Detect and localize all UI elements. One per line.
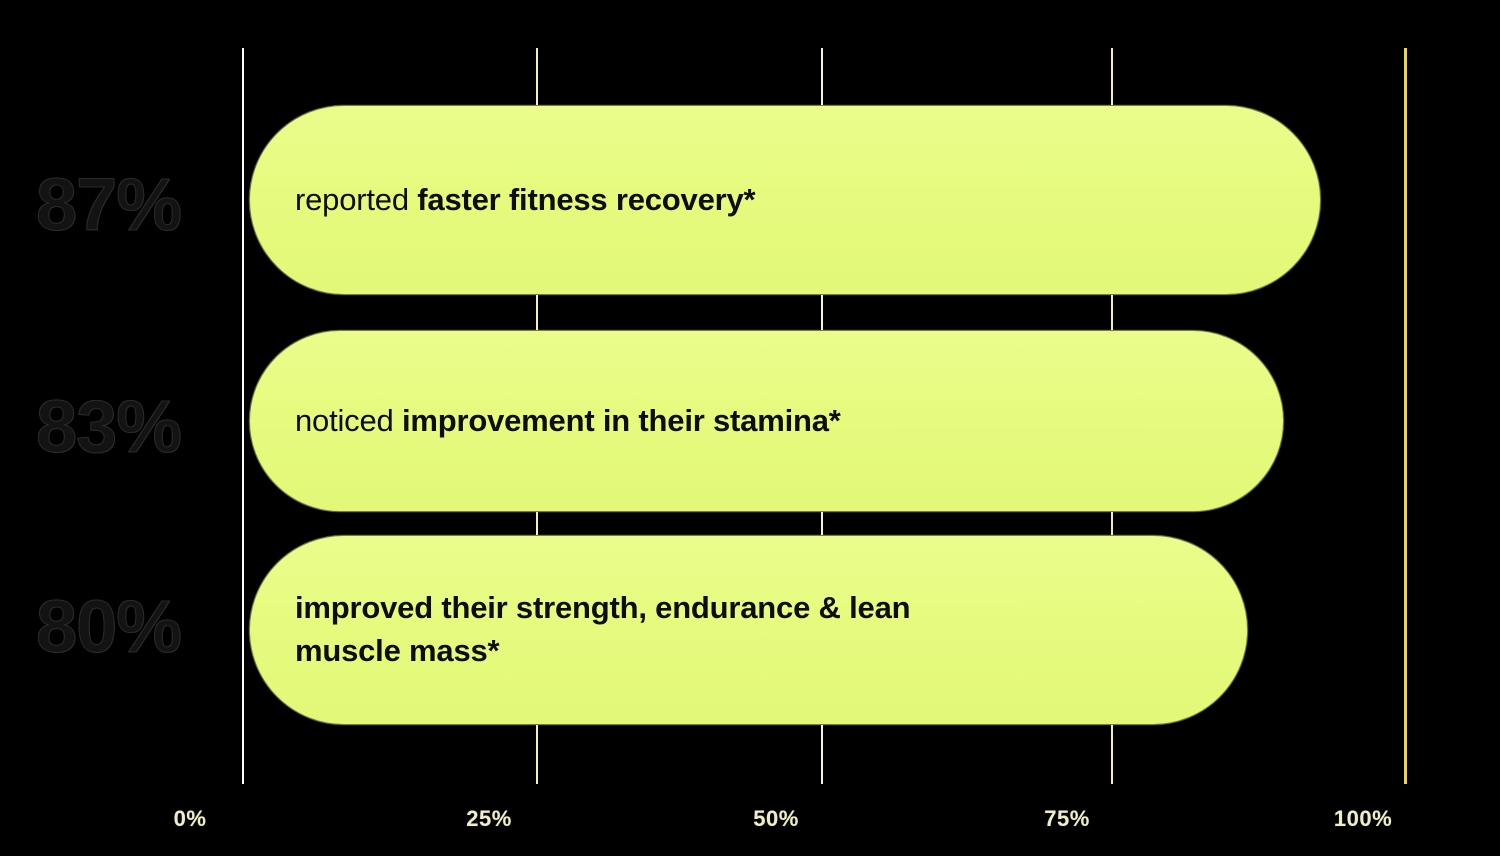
gridline-100-percent <box>1404 48 1407 784</box>
bar-row-1[interactable]: reported faster fitness recovery* <box>249 105 1321 295</box>
value-label-bar-3: 80% <box>36 590 226 664</box>
bar-label-2-emphasis: improvement in their stamina* <box>402 403 841 438</box>
tick-label-25: 25% <box>466 806 512 832</box>
bar-label-1-lead: reported <box>295 182 417 217</box>
tick-label-0: 0% <box>174 806 207 832</box>
bar-label-1: reported faster fitness recovery* <box>250 179 785 222</box>
value-label-bar-2: 83% <box>36 390 226 464</box>
bar-label-2-lead: noticed <box>295 403 402 438</box>
tick-label-50: 50% <box>753 806 799 832</box>
value-label-bar-1: 87% <box>36 168 226 242</box>
bar-row-3[interactable]: improved their strength, endurance & lea… <box>249 535 1248 725</box>
bar-label-1-emphasis: faster fitness recovery* <box>417 182 755 217</box>
bar-label-3: improved their strength, endurance & lea… <box>250 587 940 673</box>
tick-label-75: 75% <box>1044 806 1090 832</box>
bar-label-3-line-2: muscle mass* <box>295 630 910 673</box>
tick-label-100: 100% <box>1334 806 1392 832</box>
gridline-0-percent <box>242 48 244 784</box>
bar-row-2[interactable]: noticed improvement in their stamina* <box>249 330 1284 512</box>
bar-label-3-line-1: improved their strength, endurance & lea… <box>295 587 910 630</box>
horizontal-bar-chart: 87% 83% 80% reported faster fitness reco… <box>0 0 1500 856</box>
bar-label-2: noticed improvement in their stamina* <box>250 400 871 443</box>
